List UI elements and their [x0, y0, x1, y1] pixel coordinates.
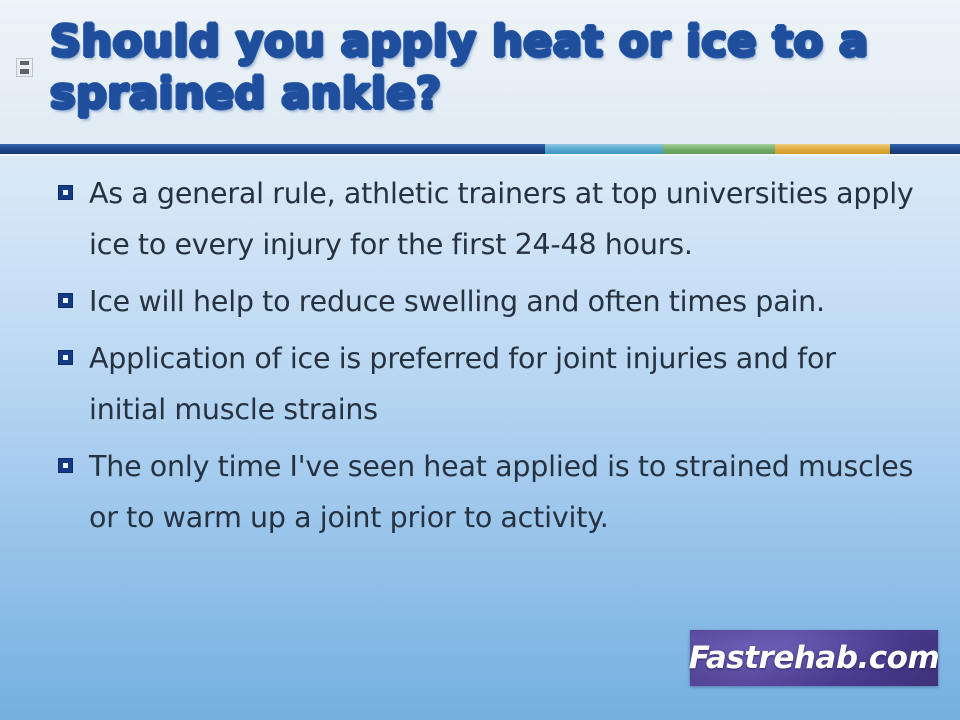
list-item-text: Ice will help to reduce swelling and oft… — [89, 276, 918, 327]
page-title-line-2: sprained ankle? — [50, 68, 930, 120]
square-bullet-icon — [58, 350, 73, 365]
bullet-list: As a general rule, athletic trainers at … — [58, 168, 918, 549]
list-item: The only time I've seen heat applied is … — [58, 441, 918, 543]
square-bullet-icon — [58, 458, 73, 473]
divider-segment-orange — [775, 144, 890, 154]
list-item: As a general rule, athletic trainers at … — [58, 168, 918, 270]
square-bullet-icon — [58, 293, 73, 308]
square-bullet-icon — [58, 185, 73, 200]
fastrehab-logo[interactable]: Fastrehab.com — [690, 630, 938, 686]
logo-text: Fastrehab.com — [689, 640, 940, 676]
divider — [0, 144, 960, 156]
list-item-text: The only time I've seen heat applied is … — [89, 441, 918, 543]
presentation-slide: Should you apply heat or ice to a sprain… — [0, 0, 960, 720]
page-title-line-1: Should you apply heat or ice to a — [50, 16, 930, 68]
divider-hairline — [0, 154, 960, 156]
list-item: Application of ice is preferred for join… — [58, 333, 918, 435]
list-item-text: As a general rule, athletic trainers at … — [89, 168, 918, 270]
slide-header: Should you apply heat or ice to a sprain… — [0, 0, 960, 146]
divider-segment-teal — [545, 144, 663, 154]
list-item-text: Application of ice is preferred for join… — [89, 333, 918, 435]
divider-segment-green — [663, 144, 775, 154]
divider-segment-navy-left — [0, 144, 545, 154]
page-title: Should you apply heat or ice to a sprain… — [50, 16, 930, 120]
broken-image-icon — [16, 58, 33, 77]
divider-segment-navy-right — [890, 144, 960, 154]
list-item: Ice will help to reduce swelling and oft… — [58, 276, 918, 327]
